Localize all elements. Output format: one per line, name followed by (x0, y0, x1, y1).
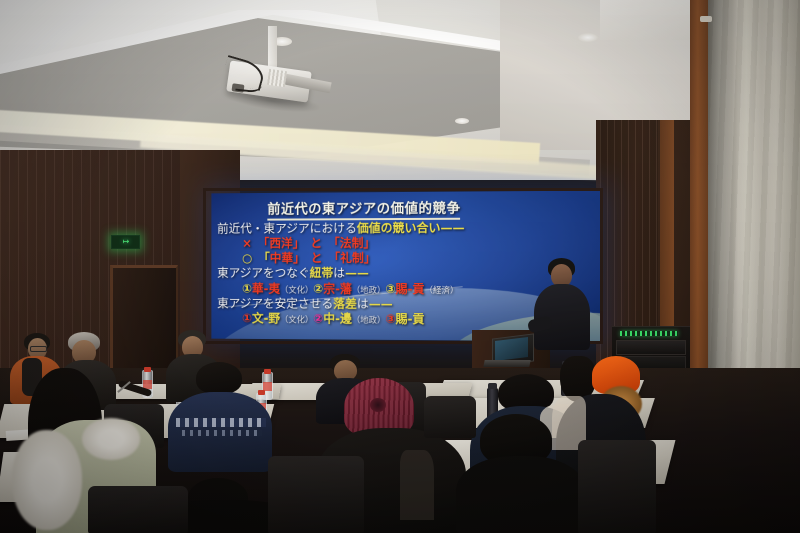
bag-strap (400, 450, 434, 520)
chair[interactable] (424, 396, 476, 438)
curtain-shadow (708, 0, 738, 420)
laptop-screen-glow (495, 337, 528, 361)
fur-trim (12, 430, 82, 530)
glasses (30, 346, 47, 352)
bottle-cap (264, 369, 271, 374)
exit-running-man-icon: ↦ (123, 238, 129, 246)
sweater-pattern (176, 418, 266, 427)
laptop-keyboard[interactable] (483, 360, 530, 367)
beanie-detail (370, 398, 386, 412)
av-rack-unit (616, 340, 686, 355)
downlight (578, 33, 598, 42)
projector-vent (267, 69, 287, 87)
chair[interactable] (88, 486, 188, 533)
fur-trim (82, 418, 140, 460)
downlight (455, 118, 469, 124)
hair (196, 362, 242, 394)
exit-sign: ↦ (111, 235, 140, 249)
sweater-pattern (182, 430, 262, 436)
thermos-lid (488, 383, 497, 389)
torso (456, 456, 586, 533)
bottle-cap (258, 390, 265, 395)
av-rack-led-strip (620, 331, 678, 336)
conference-room-photo: ↦ 前近代の東アジアの価値的競争 前近代・東アジアにおける価値の競い合い——× … (0, 0, 800, 533)
chair[interactable] (268, 456, 364, 533)
bottle-cap (144, 367, 151, 372)
curtain-rod-hook (700, 16, 712, 22)
chair[interactable] (578, 440, 656, 533)
